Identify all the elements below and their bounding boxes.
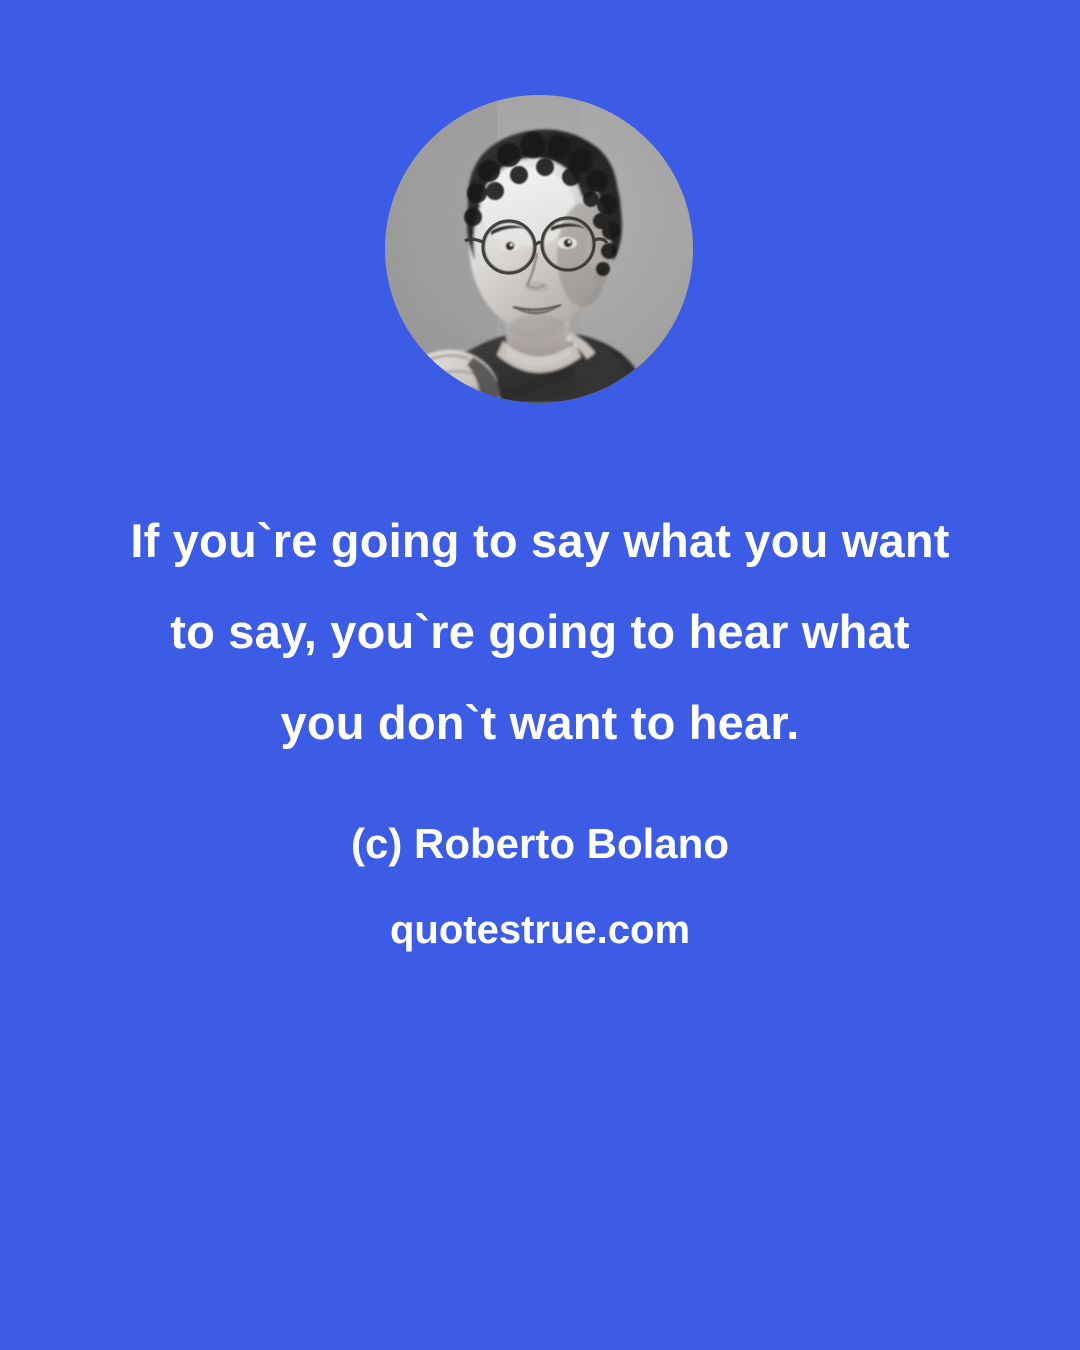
quote-line-3: you don`t want to hear.: [0, 677, 1080, 768]
quote-text: If you`re going to say what you want to …: [0, 495, 1080, 768]
author-portrait: [385, 95, 693, 403]
quote-line-2: to say, you`re going to hear what: [0, 586, 1080, 677]
author-portrait-image: [385, 95, 693, 403]
quote-line-1: If you`re going to say what you want: [0, 495, 1080, 586]
quote-attribution: (c) Roberto Bolano: [0, 818, 1080, 870]
quote-card: If you`re going to say what you want to …: [0, 0, 1080, 1350]
source-watermark: quotestrue.com: [0, 905, 1080, 955]
